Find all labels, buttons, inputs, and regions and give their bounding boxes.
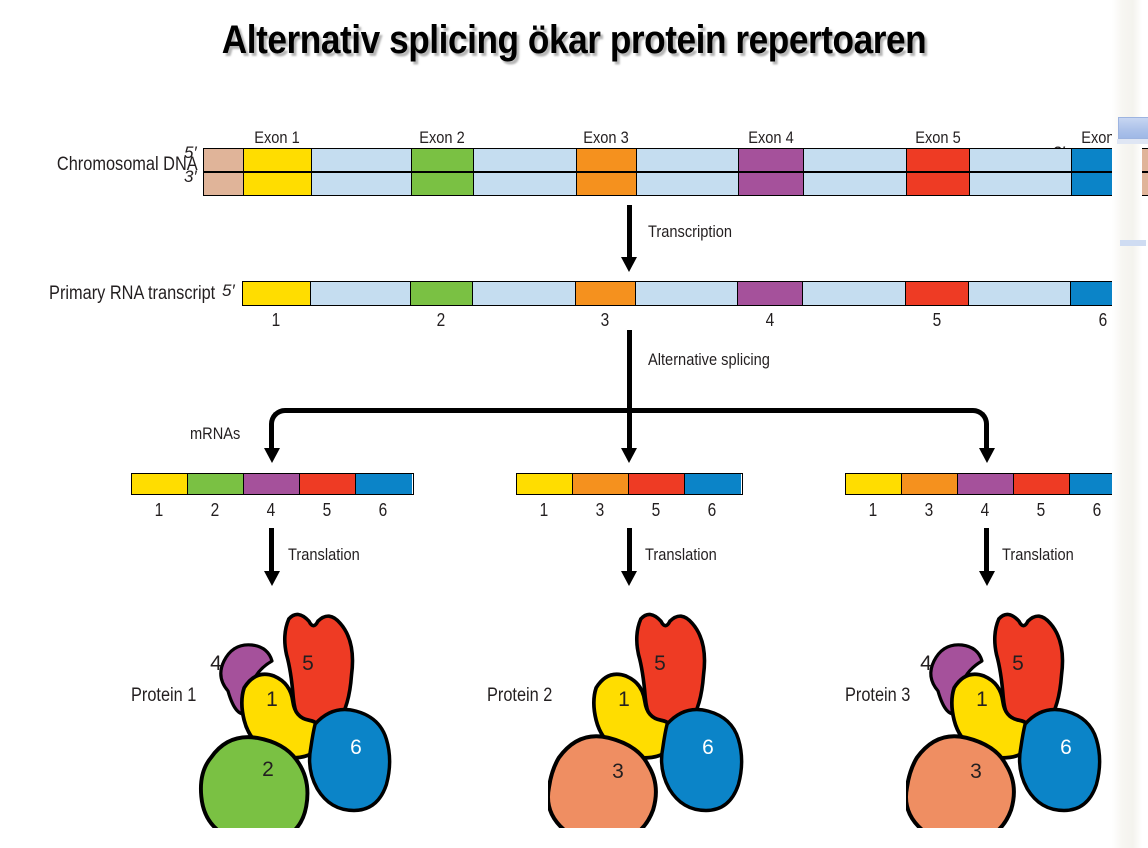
page-title: Alternativ splicing ökar protein reperto…: [69, 18, 1079, 63]
rna-segment-intron-7: [803, 282, 906, 305]
translation-label-2: Translation: [645, 545, 717, 565]
slide-canvas: Alternativ splicing ökar protein reperto…: [0, 0, 1148, 848]
right-edge-marker-top[interactable]: [1118, 117, 1148, 139]
dna-exon-title-exon-1: Exon 1: [243, 128, 312, 148]
mrna-2-segment-exon-3: [573, 474, 629, 494]
rna-exon-num-2: 2: [407, 310, 476, 331]
protein-blob-number-5: 5: [1012, 652, 1024, 675]
rna-exon-num-4: 4: [735, 310, 804, 331]
dna-bottom-segment-intron-2: [312, 173, 412, 195]
dna-top-segment-exon-1: [244, 149, 312, 171]
protein-2-label: Protein 2: [487, 685, 552, 707]
mrna-2-segment-exon-5: [629, 474, 685, 494]
dna-top-segment-intron-4: [474, 149, 577, 171]
dna-bottom-segment-exon-1: [244, 173, 312, 195]
dna-strand-top: [203, 148, 1148, 172]
dna-top-segment-intron-2: [312, 149, 412, 171]
dna-top-segment-exon-2: [412, 149, 474, 171]
dna-top-segment-exon-3: [577, 149, 637, 171]
dna-top-segment-exon-4: [739, 149, 804, 171]
dna-bottom-segment-intron-10: [970, 173, 1072, 195]
alternative-splicing-label: Alternative splicing: [648, 350, 770, 370]
rna-segment-intron-9: [969, 282, 1071, 305]
dna-left-prime-bottom: 3′: [184, 167, 197, 187]
mrna-3-segment-exon-1: [846, 474, 902, 494]
protein-3-structure: 45136: [906, 608, 1136, 828]
right-edge-marker-second[interactable]: [1120, 240, 1146, 246]
dna-exon-title-exon-3: Exon 3: [572, 128, 641, 148]
protein-blob-number-4: 4: [920, 652, 932, 675]
mrna-1-num-6: 6: [349, 500, 418, 521]
mrna-1-segment-exon-2: [188, 474, 244, 494]
protein-blob-number-1: 1: [976, 688, 988, 711]
mrna-1-segment-exon-6: [356, 474, 412, 494]
protein-blob-exon-6: [310, 710, 390, 811]
dna-top-segment-intron-6: [637, 149, 739, 171]
dna-top-segment-exon-5: [907, 149, 970, 171]
rna-left-prime: 5′: [222, 281, 235, 301]
protein-blob-number-5: 5: [654, 652, 666, 675]
dna-strand-bottom: [203, 172, 1148, 196]
mrna-1-segment-exon-4: [244, 474, 300, 494]
rna-strand: [242, 281, 1138, 306]
transcription-label: Transcription: [648, 222, 732, 242]
protein-blob-number-6: 6: [1060, 736, 1072, 759]
dna-bottom-segment-exon-2: [412, 173, 474, 195]
mrna-bar-2: [516, 473, 743, 495]
mrna-3-segment-exon-5: [1014, 474, 1070, 494]
rna-segment-exon-2: [411, 282, 473, 305]
protein-3-label: Protein 3: [845, 685, 910, 707]
protein-blob-group: 5136: [548, 608, 778, 828]
protein-blob-number-2: 2: [262, 758, 274, 781]
rna-exon-num-1: 1: [242, 310, 311, 331]
protein-1-label: Protein 1: [131, 685, 196, 707]
mrna-1-segment-exon-1: [132, 474, 188, 494]
dna-exon-title-exon-2: Exon 2: [408, 128, 477, 148]
protein-blob-number-6: 6: [350, 736, 362, 759]
dna-top-segment-intron-10: [970, 149, 1072, 171]
mrna-3-segment-exon-3: [902, 474, 958, 494]
protein-blob-exon-6: [1020, 710, 1100, 811]
mrna-3-segment-exon-4: [958, 474, 1014, 494]
dna-bottom-segment-intron-6: [637, 173, 739, 195]
mrna-1-segment-exon-5: [300, 474, 356, 494]
protein-blob-number-3: 3: [612, 760, 624, 783]
rna-segment-intron-1: [311, 282, 411, 305]
translation-label-1: Translation: [288, 545, 360, 565]
dna-bottom-segment-exon-4: [739, 173, 804, 195]
protein-blob-number-1: 1: [266, 688, 278, 711]
dna-bottom-segment-exon-5: [907, 173, 970, 195]
dna-exon-title-exon-4: Exon 4: [736, 128, 805, 148]
dna-bottom-segment-intron-8: [804, 173, 907, 195]
dna-top-segment-intron-8: [804, 149, 907, 171]
primary-rna-label: Primary RNA transcript: [49, 283, 215, 305]
mrna-2-segment-exon-6: [685, 474, 741, 494]
protein-blob-number-1: 1: [618, 688, 630, 711]
dna-left-prime-top: 5′: [184, 143, 197, 163]
mrnas-label: mRNAs: [190, 424, 240, 444]
protein-blob-number-6: 6: [702, 736, 714, 759]
rna-segment-exon-1: [243, 282, 311, 305]
protein-blob-group: 45136: [906, 608, 1136, 828]
rna-segment-exon-5: [906, 282, 969, 305]
rna-exon-num-3: 3: [571, 310, 640, 331]
dna-exon-title-exon-5: Exon 5: [903, 128, 972, 148]
rna-exon-num-5: 5: [902, 310, 971, 331]
rna-segment-intron-3: [473, 282, 576, 305]
dna-bottom-segment-intron-4: [474, 173, 577, 195]
protein-1-structure: 45126: [196, 608, 426, 828]
rna-segment-exon-3: [576, 282, 636, 305]
protein-2-structure: 5136: [548, 608, 778, 828]
dna-bottom-segment-flank-0: [204, 173, 244, 195]
mrna-2-num-6: 6: [678, 500, 747, 521]
mrna-bar-1: [131, 473, 414, 495]
rna-segment-intron-5: [636, 282, 738, 305]
rna-segment-exon-4: [738, 282, 803, 305]
translation-label-3: Translation: [1002, 545, 1074, 565]
mrna-bar-3: [845, 473, 1128, 495]
protein-blob-number-5: 5: [302, 652, 314, 675]
dna-top-segment-flank-0: [204, 149, 244, 171]
protein-blob-number-3: 3: [970, 760, 982, 783]
protein-blob-group: 45126: [196, 608, 426, 828]
dna-bottom-segment-exon-3: [577, 173, 637, 195]
protein-blob-number-4: 4: [210, 652, 222, 675]
mrna-2-segment-exon-1: [517, 474, 573, 494]
protein-blob-exon-6: [662, 710, 742, 811]
chromosomal-dna-label: Chromosomal DNA: [57, 154, 198, 176]
